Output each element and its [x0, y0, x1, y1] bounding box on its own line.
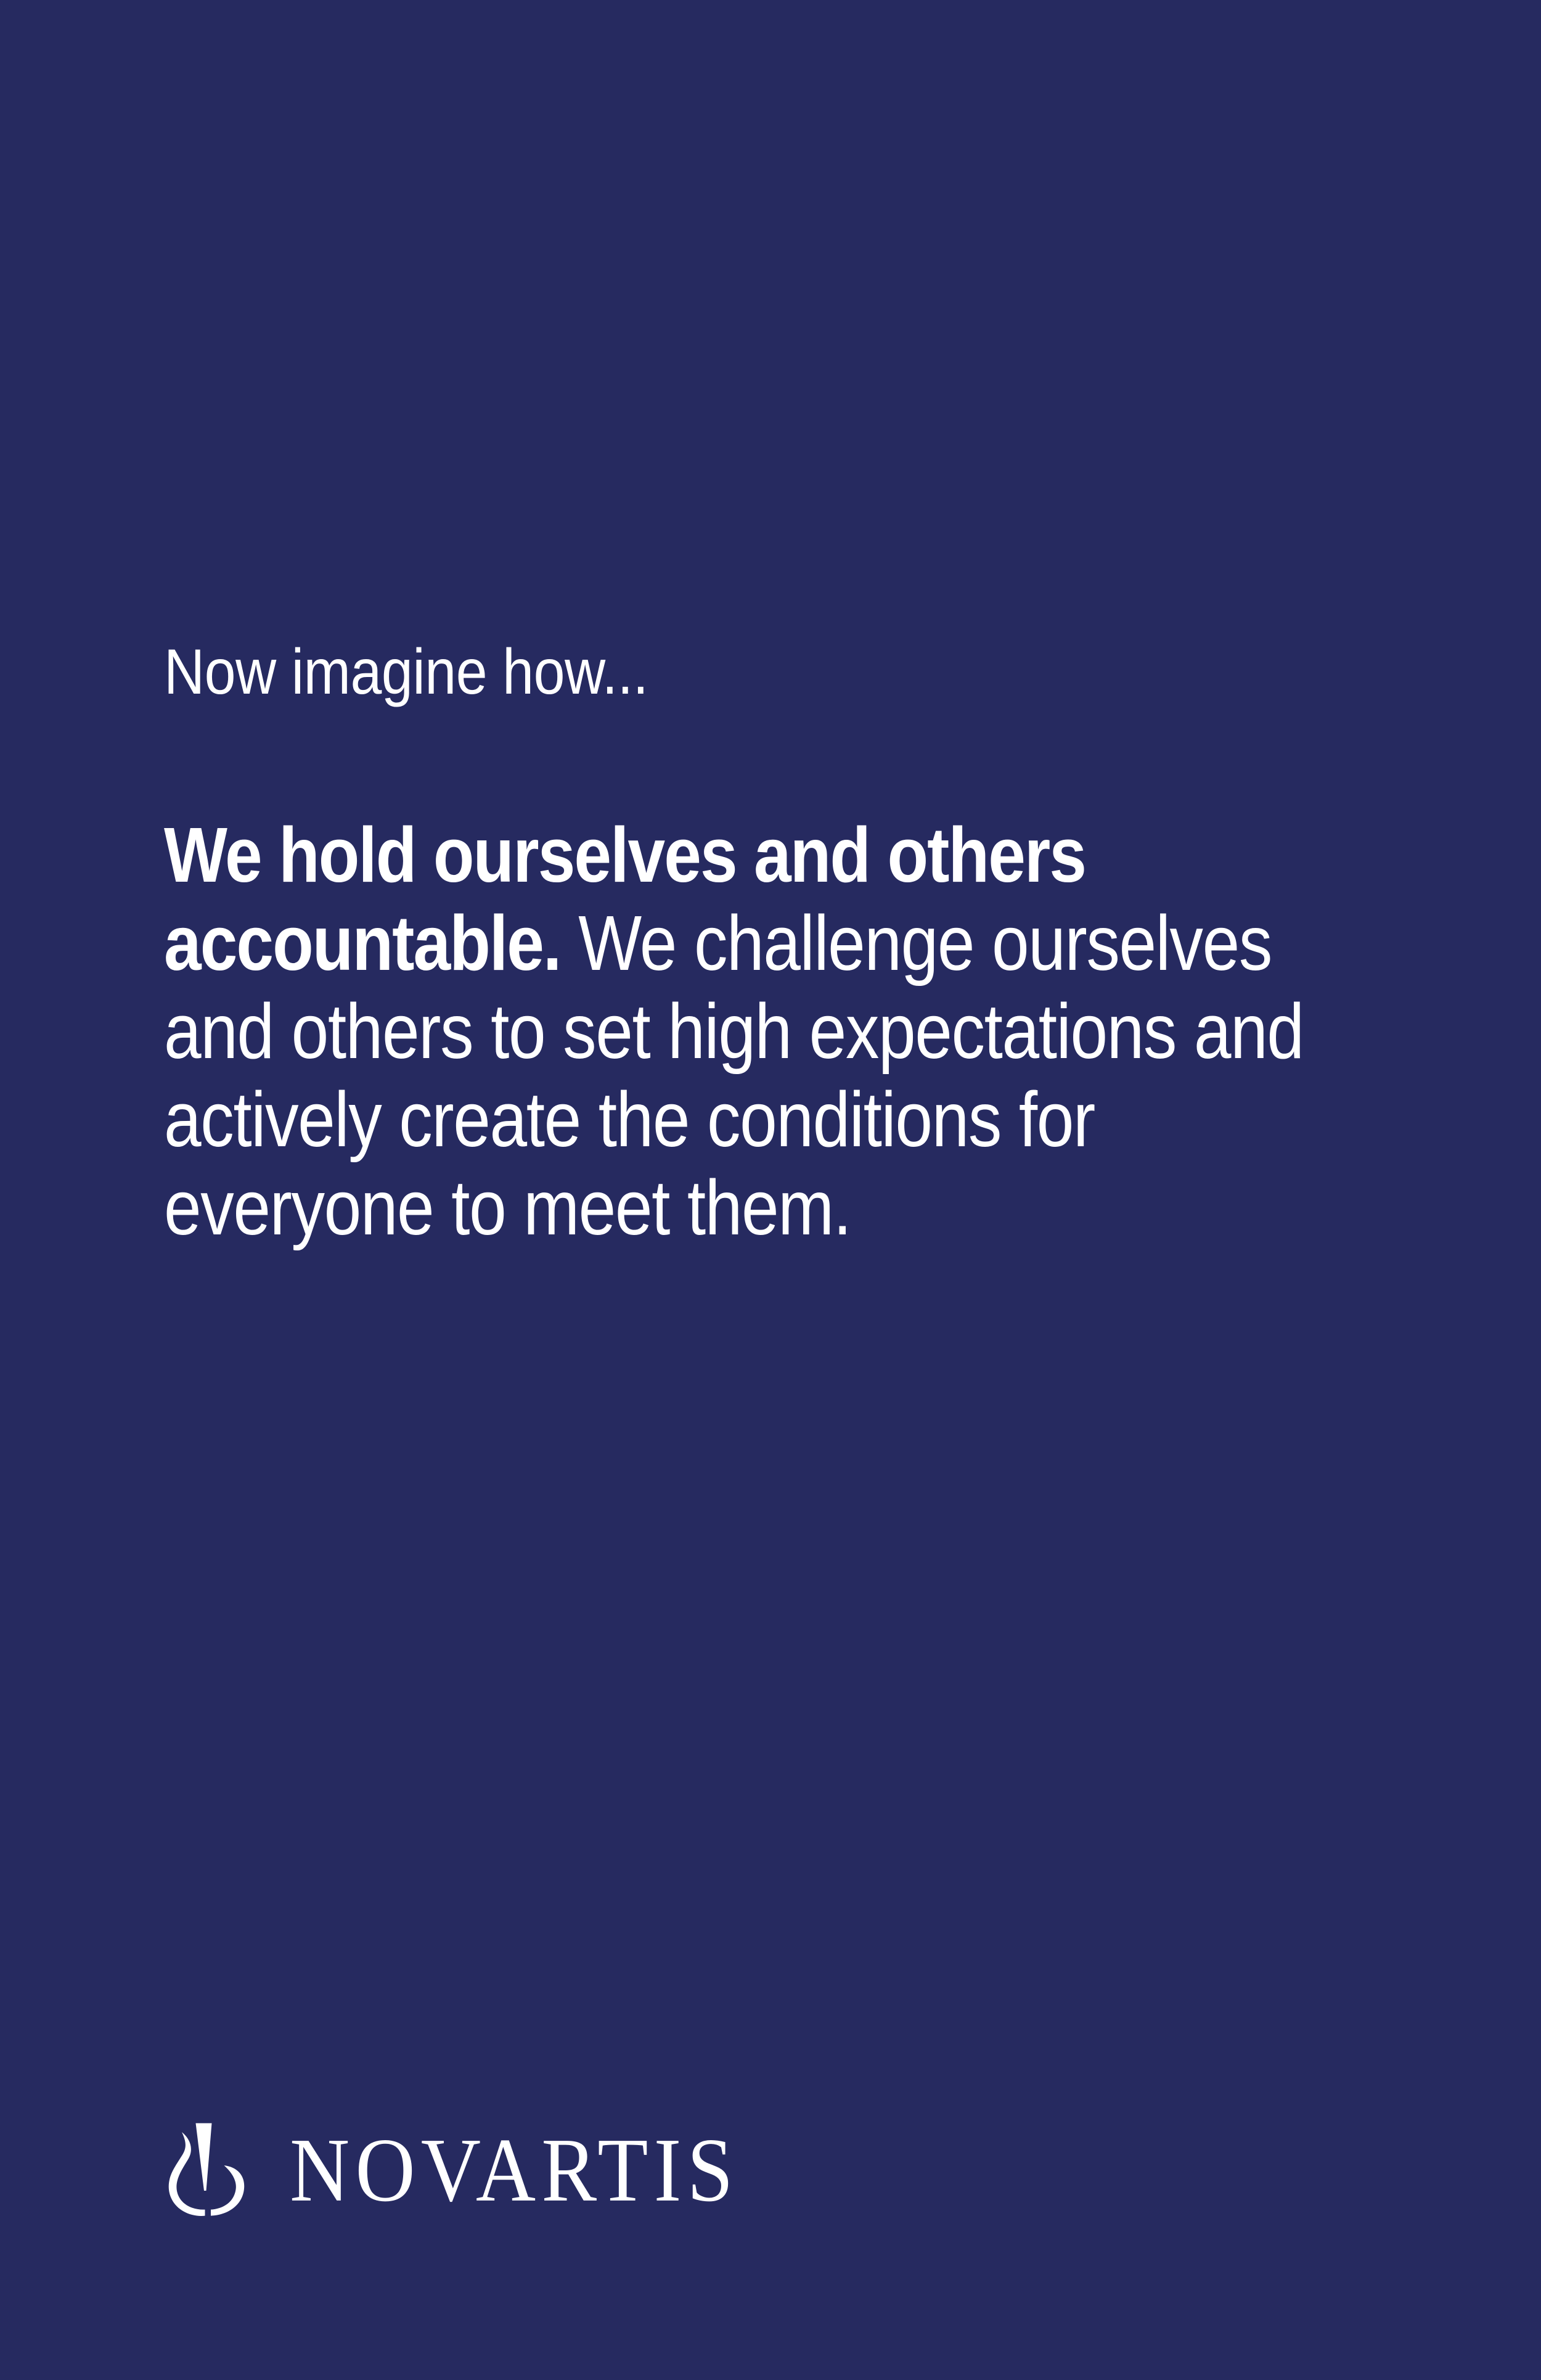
- novartis-flame-icon: [161, 2112, 254, 2224]
- content-column: Now imagine how... We hold ourselves and…: [164, 638, 1391, 706]
- novartis-logo: NOVARTIS: [161, 2112, 730, 2224]
- novartis-wordmark: NOVARTIS: [290, 2125, 739, 2224]
- poster-canvas: Now imagine how... We hold ourselves and…: [0, 0, 1541, 2380]
- value-statement: We hold ourselves and others accountable…: [164, 811, 1369, 1252]
- page-headline: Now imagine how...: [164, 638, 1243, 706]
